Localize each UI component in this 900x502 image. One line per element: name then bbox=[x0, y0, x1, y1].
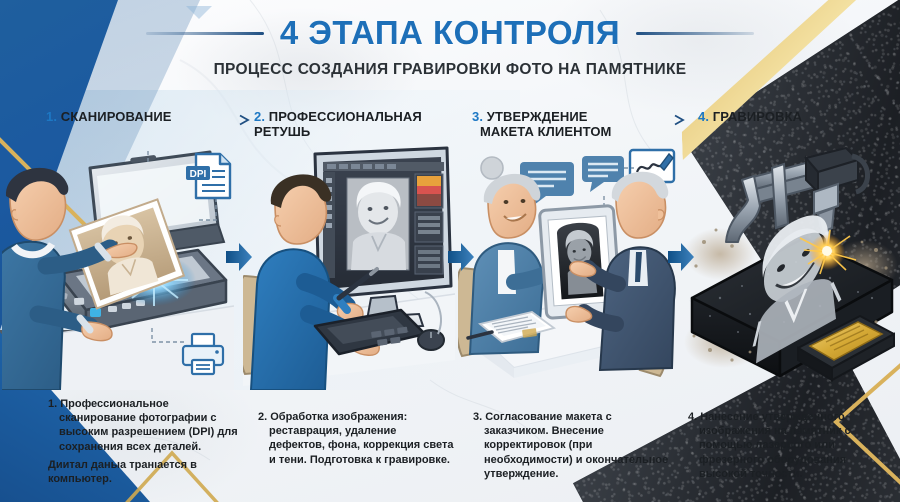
caption-1-line2: сканирование фотографии bbox=[59, 412, 207, 424]
caption-4-line5: высокой точности. bbox=[699, 468, 803, 480]
step-heading-3: 3. УТВЕРЖДЕНИЕ МАКЕТА КЛИЕНТОМ bbox=[472, 109, 611, 139]
step-label-3-line2: МАКЕТА КЛИЕНТОМ bbox=[472, 124, 611, 139]
caption-4-line1: 4. Нанесение утвержденного bbox=[688, 411, 845, 423]
header: 4 ЭТАПА КОНТРОЛЯ ПРОЦЕСС СОЗДАНИЯ ГРАВИР… bbox=[0, 14, 900, 79]
title-row: 4 ЭТАПА КОНТРОЛЯ bbox=[0, 14, 900, 52]
caption-2-line1: 2. Обработка изображения: bbox=[258, 411, 407, 423]
step-number-4: 4. bbox=[698, 109, 709, 124]
step-label-2-line2: РЕТУШЬ bbox=[254, 124, 422, 139]
retouch-scene-illustration bbox=[243, 146, 455, 390]
step-number-2: 2. bbox=[254, 109, 265, 124]
caption-3-line3: корректировок (при bbox=[484, 439, 592, 451]
caption-1-line1: 1. Профессиональное bbox=[48, 398, 169, 410]
step-number-3: 3. bbox=[472, 109, 483, 124]
flow-arrow-icon-3 bbox=[668, 242, 694, 272]
step-label-3: УТВЕРЖДЕНИЕ bbox=[487, 109, 588, 124]
header-arrow-icon-1 bbox=[218, 114, 250, 126]
caption-1: 1. Профессиональное сканирование фотогра… bbox=[48, 397, 238, 486]
page-subtitle: ПРОЦЕСС СОЗДАНИЯ ГРАВИРОВКИ ФОТО НА ПАМЯ… bbox=[0, 61, 900, 79]
caption-2-line3: дефектов, фона, коррекция bbox=[269, 439, 420, 451]
portrait-on-screen bbox=[347, 178, 409, 270]
panel-retouching bbox=[243, 146, 455, 390]
caption-2: 2. Обработка изображения: реставрация, у… bbox=[258, 410, 454, 467]
dpi-badge-label: DPI bbox=[190, 169, 207, 180]
title-tick-marker bbox=[186, 6, 212, 19]
caption-3-line4: необходимости) и bbox=[484, 454, 582, 466]
step-heading-1: 1. СКАНИРОВАНИЕ bbox=[46, 109, 172, 124]
panel-scanning: DPI bbox=[2, 146, 234, 390]
step-number-1: 1. bbox=[46, 109, 57, 124]
caption-2-line2: реставрация, удаление bbox=[269, 425, 396, 437]
illustration-panels: DPI bbox=[0, 146, 900, 390]
title-rule-left bbox=[146, 32, 264, 35]
panel-approval bbox=[458, 146, 680, 390]
panel-engraving bbox=[680, 146, 898, 390]
step-headings: 1. СКАНИРОВАНИЕ 2. ПРОФЕССИОНАЛЬНАЯ РЕТУ… bbox=[0, 104, 900, 148]
caption-3-line1: 3. Согласование макета с bbox=[473, 411, 612, 423]
caption-4-line4: фрезерного оборудования bbox=[699, 454, 846, 466]
step-label-4: ГРАВИРОВКА bbox=[713, 109, 802, 124]
flow-arrow-icon-2 bbox=[448, 242, 474, 272]
caption-1-line5: Диитал даныа транıается bbox=[48, 459, 187, 471]
caption-3: 3. Согласование макета с заказчиком. Вне… bbox=[473, 410, 671, 481]
step-label-1: СКАНИРОВАНИЕ bbox=[61, 109, 172, 124]
captions: 1. Профессиональное сканирование фотогра… bbox=[0, 392, 900, 502]
page-title: 4 ЭТАПА КОНТРОЛЯ bbox=[280, 14, 620, 52]
step-label-2: ПРОФЕССИОНАЛЬНАЯ bbox=[269, 109, 422, 124]
infographic-canvas: 4 ЭТАПА КОНТРОЛЯ ПРОЦЕСС СОЗДАНИЯ ГРАВИР… bbox=[0, 0, 900, 502]
scanner-scene-illustration: DPI bbox=[2, 146, 234, 390]
caption-4-line3: помощью лазерного или bbox=[699, 439, 835, 451]
caption-3-line2: заказчиком. Внесение bbox=[484, 425, 604, 437]
step-heading-2: 2. ПРОФЕССИОНАЛЬНАЯ РЕТУШЬ bbox=[254, 109, 422, 139]
engraving-scene-illustration bbox=[680, 146, 898, 390]
title-rule-right bbox=[636, 32, 754, 35]
approval-scene-illustration bbox=[458, 146, 680, 390]
header-arrow-icon-2 bbox=[653, 114, 685, 126]
caption-4-line2: изображения на памятник с bbox=[699, 425, 851, 437]
flow-arrow-icon-1 bbox=[226, 242, 252, 272]
step-heading-4: 4. ГРАВИРОВКА bbox=[698, 109, 802, 124]
caption-2-line5: Подготовка к гравировке. bbox=[310, 454, 450, 466]
caption-4: 4. Нанесение утвержденного изображения н… bbox=[688, 410, 886, 481]
